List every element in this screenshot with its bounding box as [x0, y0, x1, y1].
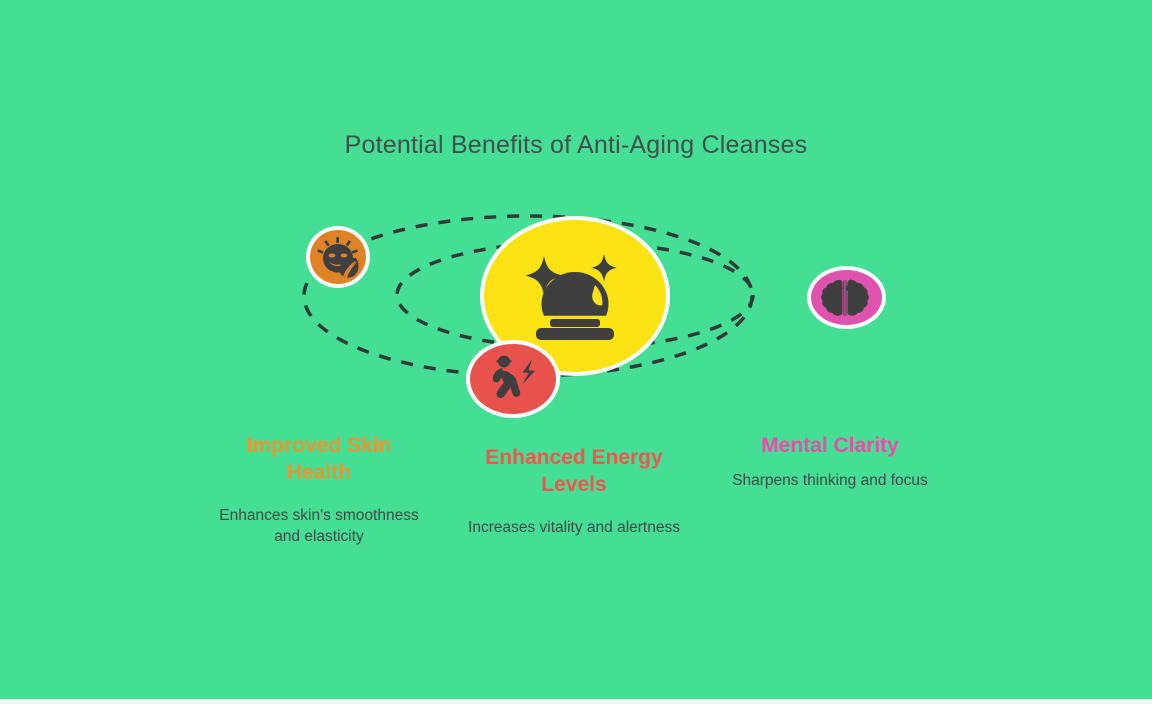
- brain-sparkle-icon: [821, 276, 873, 320]
- infographic-canvas: Potential Benefits of Anti-Aging Cleanse…: [0, 0, 1152, 699]
- benefit-description: Enhances skin's smoothness and elasticit…: [214, 505, 424, 547]
- running-person-lightning-icon: [484, 353, 542, 405]
- benefit-improved-skin-health: Improved Skin Health Enhances skin's smo…: [214, 432, 424, 547]
- glowing-face-leaf-icon: [317, 236, 359, 278]
- benefit-enhanced-energy-levels: Enhanced Energy Levels Increases vitalit…: [468, 444, 680, 538]
- mind-node[interactable]: [807, 266, 886, 329]
- benefit-mental-clarity: Mental Clarity Sharpens thinking and foc…: [722, 432, 938, 491]
- benefit-description: Sharpens thinking and focus: [722, 470, 938, 491]
- energy-node[interactable]: [466, 340, 560, 418]
- crystal-ball-sparkle-icon: [500, 236, 650, 356]
- page-title: Potential Benefits of Anti-Aging Cleanse…: [0, 131, 1152, 160]
- benefit-description: Increases vitality and alertness: [468, 517, 680, 538]
- benefit-title: Enhanced Energy Levels: [468, 444, 680, 498]
- bottom-edge-strip: [0, 699, 1152, 704]
- benefit-title: Improved Skin Health: [214, 432, 424, 486]
- skin-node[interactable]: [306, 226, 370, 288]
- benefit-title: Mental Clarity: [722, 432, 938, 459]
